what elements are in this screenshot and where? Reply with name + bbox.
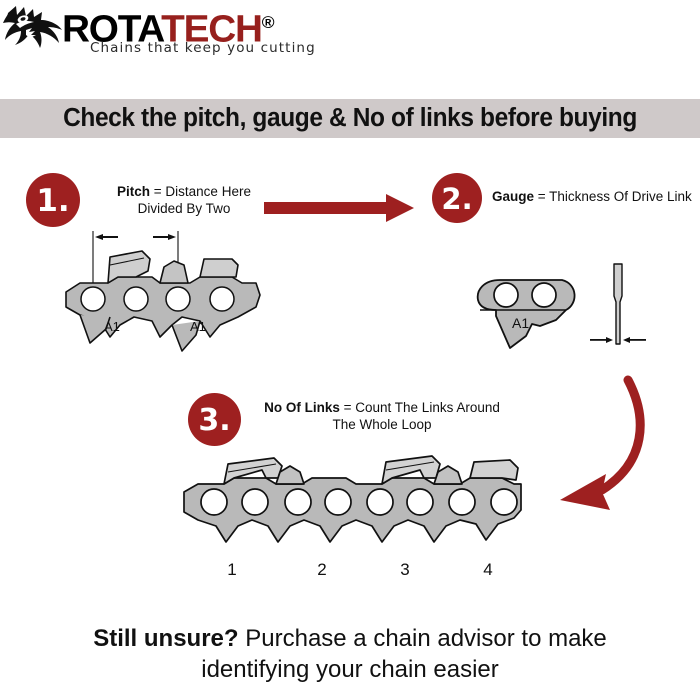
saw-chain-pitch-diagram: A1 A1 bbox=[60, 225, 290, 365]
infographic-canvas: ROTATECH® Chains that keep you cutting C… bbox=[0, 0, 700, 700]
link-number-4: 4 bbox=[473, 560, 503, 580]
step-1-term: Pitch bbox=[117, 184, 150, 199]
link-number-2: 2 bbox=[307, 560, 337, 580]
page-title: Check the pitch, gauge & No of links bef… bbox=[14, 99, 686, 138]
gauge-label-a1: A1 bbox=[512, 315, 529, 331]
brand-logo: ROTATECH® Chains that keep you cutting bbox=[0, 2, 345, 64]
step-2-term: Gauge bbox=[492, 189, 534, 204]
step-1-caption: Pitch = Distance Here Divided By Two bbox=[86, 183, 282, 217]
step-3-caption: No Of Links = Count The Links Around The… bbox=[248, 399, 516, 433]
step-1-separator: = bbox=[150, 184, 165, 199]
pitch-label-a1-left: A1 bbox=[104, 319, 120, 334]
step-2-definition-line1: Thickness Of Drive Link bbox=[549, 189, 692, 204]
footer-rest-line1: Purchase a chain advisor to make bbox=[239, 625, 607, 652]
step-2-separator: = bbox=[534, 189, 549, 204]
drive-link-gauge-diagram: A1 bbox=[470, 252, 675, 367]
footer-bold-text: Still unsure? bbox=[93, 625, 238, 652]
step-3-separator: = bbox=[340, 400, 355, 415]
step-2-caption: Gauge = Thickness Of Drive Link bbox=[492, 188, 700, 205]
arrow-step2-to-step3 bbox=[540, 370, 690, 535]
link-number-1: 1 bbox=[217, 560, 247, 580]
step-2-badge: 2. bbox=[432, 173, 482, 223]
step-1-definition-line1: Distance Here bbox=[165, 184, 251, 199]
registered-trademark-icon: ® bbox=[262, 13, 275, 32]
step-3-badge: 3. bbox=[188, 393, 241, 446]
link-number-3: 3 bbox=[390, 560, 420, 580]
step-3-definition-line1: Count The Links Around bbox=[355, 400, 500, 415]
arrow-step1-to-step2 bbox=[262, 188, 422, 228]
step-1-badge: 1. bbox=[26, 173, 80, 227]
step-1-definition-line2: Divided By Two bbox=[138, 201, 231, 216]
brand-tagline: Chains that keep you cutting bbox=[90, 40, 340, 56]
header-band: Check the pitch, gauge & No of links bef… bbox=[0, 99, 700, 138]
brand-wordmark: ROTATECH® bbox=[62, 5, 348, 41]
step-3-definition-line2: The Whole Loop bbox=[332, 417, 431, 432]
step-3-term: No Of Links bbox=[264, 400, 340, 415]
footer-rest-line2: identifying your chain easier bbox=[201, 656, 499, 683]
pitch-label-a1-right: A1 bbox=[190, 319, 206, 334]
footer-message: Still unsure? Purchase a chain advisor t… bbox=[40, 623, 660, 685]
